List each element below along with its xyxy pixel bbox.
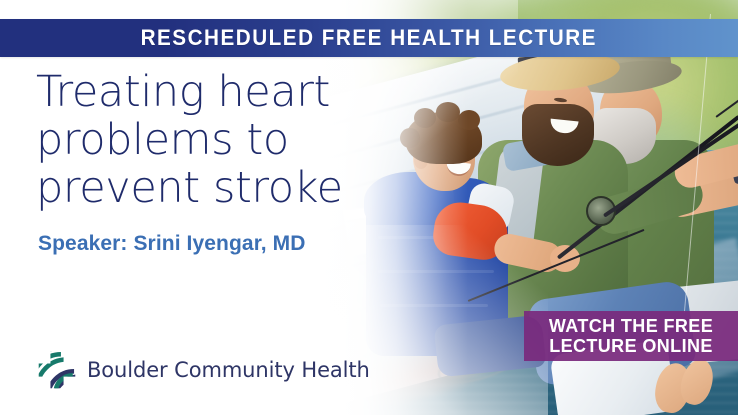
health-lecture-promo-card: RESCHEDULED FREE HEALTH LECTURE Treating… <box>0 0 738 415</box>
speaker-line: Speaker: Srini Iyengar, MD <box>38 232 306 256</box>
logo-wordmark: Boulder Community Health <box>87 358 370 382</box>
cta-line-2: LECTURE ONLINE <box>549 336 713 356</box>
banner-text: RESCHEDULED FREE HEALTH LECTURE <box>141 25 597 51</box>
rescheduled-banner: RESCHEDULED FREE HEALTH LECTURE <box>0 19 738 57</box>
father-beard <box>522 104 594 166</box>
watch-lecture-cta[interactable]: WATCH THE FREE LECTURE ONLINE <box>524 311 738 361</box>
cta-line-1: WATCH THE FREE <box>549 316 713 336</box>
page-title: Treating heart problems to prevent strok… <box>36 68 376 212</box>
brand-logo[interactable]: Boulder Community Health <box>36 349 370 391</box>
boulder-community-health-cross-icon <box>36 349 78 391</box>
